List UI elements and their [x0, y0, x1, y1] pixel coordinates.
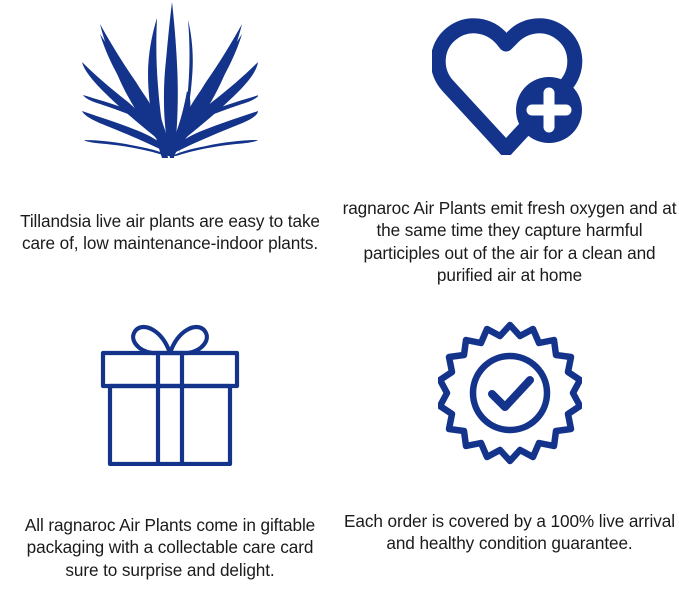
feature-grid: Tillandsia live air plants are easy to t…: [0, 0, 679, 616]
gift-box-icon: [92, 320, 248, 466]
heart-plus-icon: [432, 18, 588, 155]
feature-cell-oxygen: ragnaroc Air Plants emit fresh oxygen an…: [340, 0, 679, 308]
feature-text-oxygen: ragnaroc Air Plants emit fresh oxygen an…: [342, 197, 677, 286]
feature-text-gift: All ragnaroc Air Plants come in giftable…: [4, 514, 336, 581]
verified-badge-icon: [438, 320, 582, 466]
feature-cell-gift: All ragnaroc Air Plants come in giftable…: [0, 308, 340, 616]
feature-cell-air-plant: Tillandsia live air plants are easy to t…: [0, 0, 340, 308]
feature-text-air-plant: Tillandsia live air plants are easy to t…: [4, 210, 336, 255]
feature-text-guarantee: Each order is covered by a 100% live arr…: [342, 510, 677, 555]
feature-cell-guarantee: Each order is covered by a 100% live arr…: [340, 308, 679, 616]
air-plant-icon: [82, 0, 258, 158]
